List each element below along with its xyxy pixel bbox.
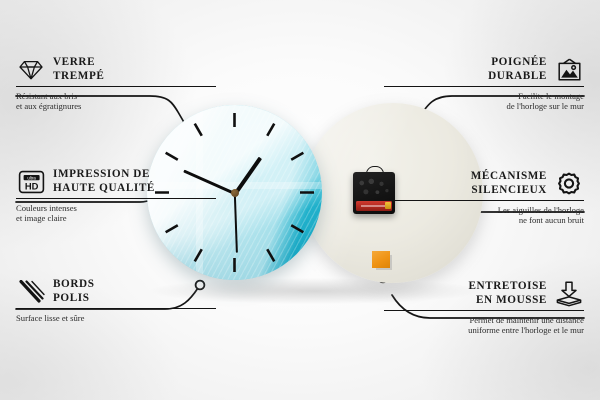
foam-spacer	[372, 251, 390, 268]
feature-header: VERRE TREMPÉ	[16, 56, 216, 83]
ultra-hd-icon: ultra HD	[16, 169, 46, 195]
feature-title: IMPRESSION DE HAUTE QUALITÉ	[53, 168, 155, 195]
diagonal-stripes-icon	[16, 279, 46, 305]
feature-header: BORDS POLIS	[16, 278, 216, 305]
svg-text:HD: HD	[24, 180, 38, 191]
feature-divider	[384, 310, 584, 311]
infographic-canvas: VERRE TREMPÉ Résistant aux bris et aux é…	[0, 0, 600, 400]
feature-poignee-durable: POIGNÉE DURABLE Facilite le montage de l…	[384, 56, 584, 112]
clock-center-pin	[231, 189, 239, 197]
feature-mecanisme-silencieux: MÉCANISME SILENCIEUX Les aiguilles de l'…	[384, 170, 584, 226]
picture-frame-icon	[554, 57, 584, 83]
feature-impression-haute-qualite: ultra HD IMPRESSION DE HAUTE QUALITÉ Cou…	[16, 168, 216, 224]
feature-header: POIGNÉE DURABLE	[384, 56, 584, 83]
feature-subtitle: Résistant aux bris et aux égratignures	[16, 91, 216, 112]
feature-subtitle: Permet de maintenir une distance uniform…	[384, 315, 584, 336]
feature-divider	[384, 200, 584, 201]
feature-title: VERRE TREMPÉ	[53, 56, 104, 83]
feature-subtitle: Couleurs intenses et image claire	[16, 203, 216, 224]
foam-spacer-arrow-icon	[554, 281, 584, 307]
feature-subtitle: Les aiguilles de l'horloge ne font aucun…	[384, 205, 584, 226]
feature-divider	[16, 86, 216, 87]
feature-title: BORDS POLIS	[53, 278, 95, 305]
feature-title: MÉCANISME SILENCIEUX	[471, 170, 547, 197]
feature-divider	[384, 86, 584, 87]
feature-header: ENTRETOISE EN MOUSSE	[384, 280, 584, 307]
feature-subtitle: Surface lisse et sûre	[16, 313, 216, 324]
feature-divider	[16, 198, 216, 199]
feature-bords-polis: BORDS POLIS Surface lisse et sûre	[16, 278, 216, 323]
feature-subtitle: Facilite le montage de l'horloge sur le …	[384, 91, 584, 112]
diamond-icon	[16, 57, 46, 83]
feature-header: ultra HD IMPRESSION DE HAUTE QUALITÉ	[16, 168, 216, 195]
feature-title: ENTRETOISE EN MOUSSE	[468, 280, 547, 307]
feature-divider	[16, 308, 216, 309]
feature-entretoise-en-mousse: ENTRETOISE EN MOUSSE Permet de maintenir…	[384, 280, 584, 336]
feature-title: POIGNÉE DURABLE	[488, 56, 547, 83]
feature-header: MÉCANISME SILENCIEUX	[384, 170, 584, 197]
feature-verre-trempe: VERRE TREMPÉ Résistant aux bris et aux é…	[16, 56, 216, 112]
gear-icon	[554, 171, 584, 197]
